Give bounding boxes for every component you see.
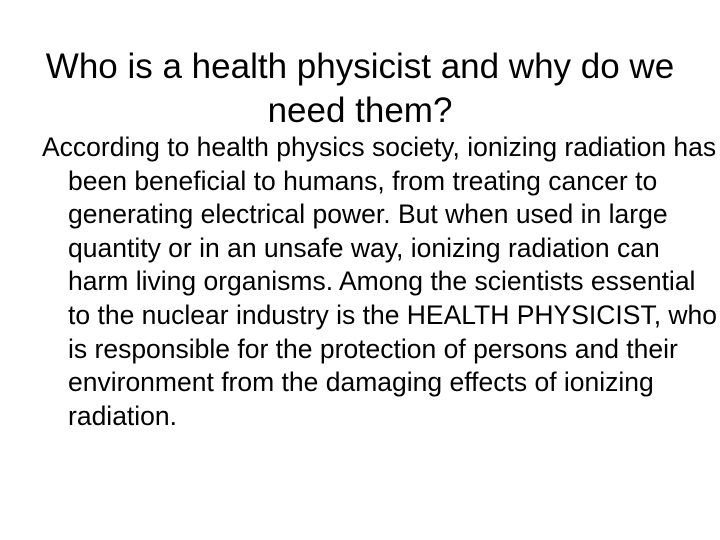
slide-body-text: According to health physics society, ion… [42,131,720,433]
presentation-slide: Who is a health physicist and why do we … [0,0,720,540]
page-title: Who is a health physicist and why do we … [30,45,690,133]
